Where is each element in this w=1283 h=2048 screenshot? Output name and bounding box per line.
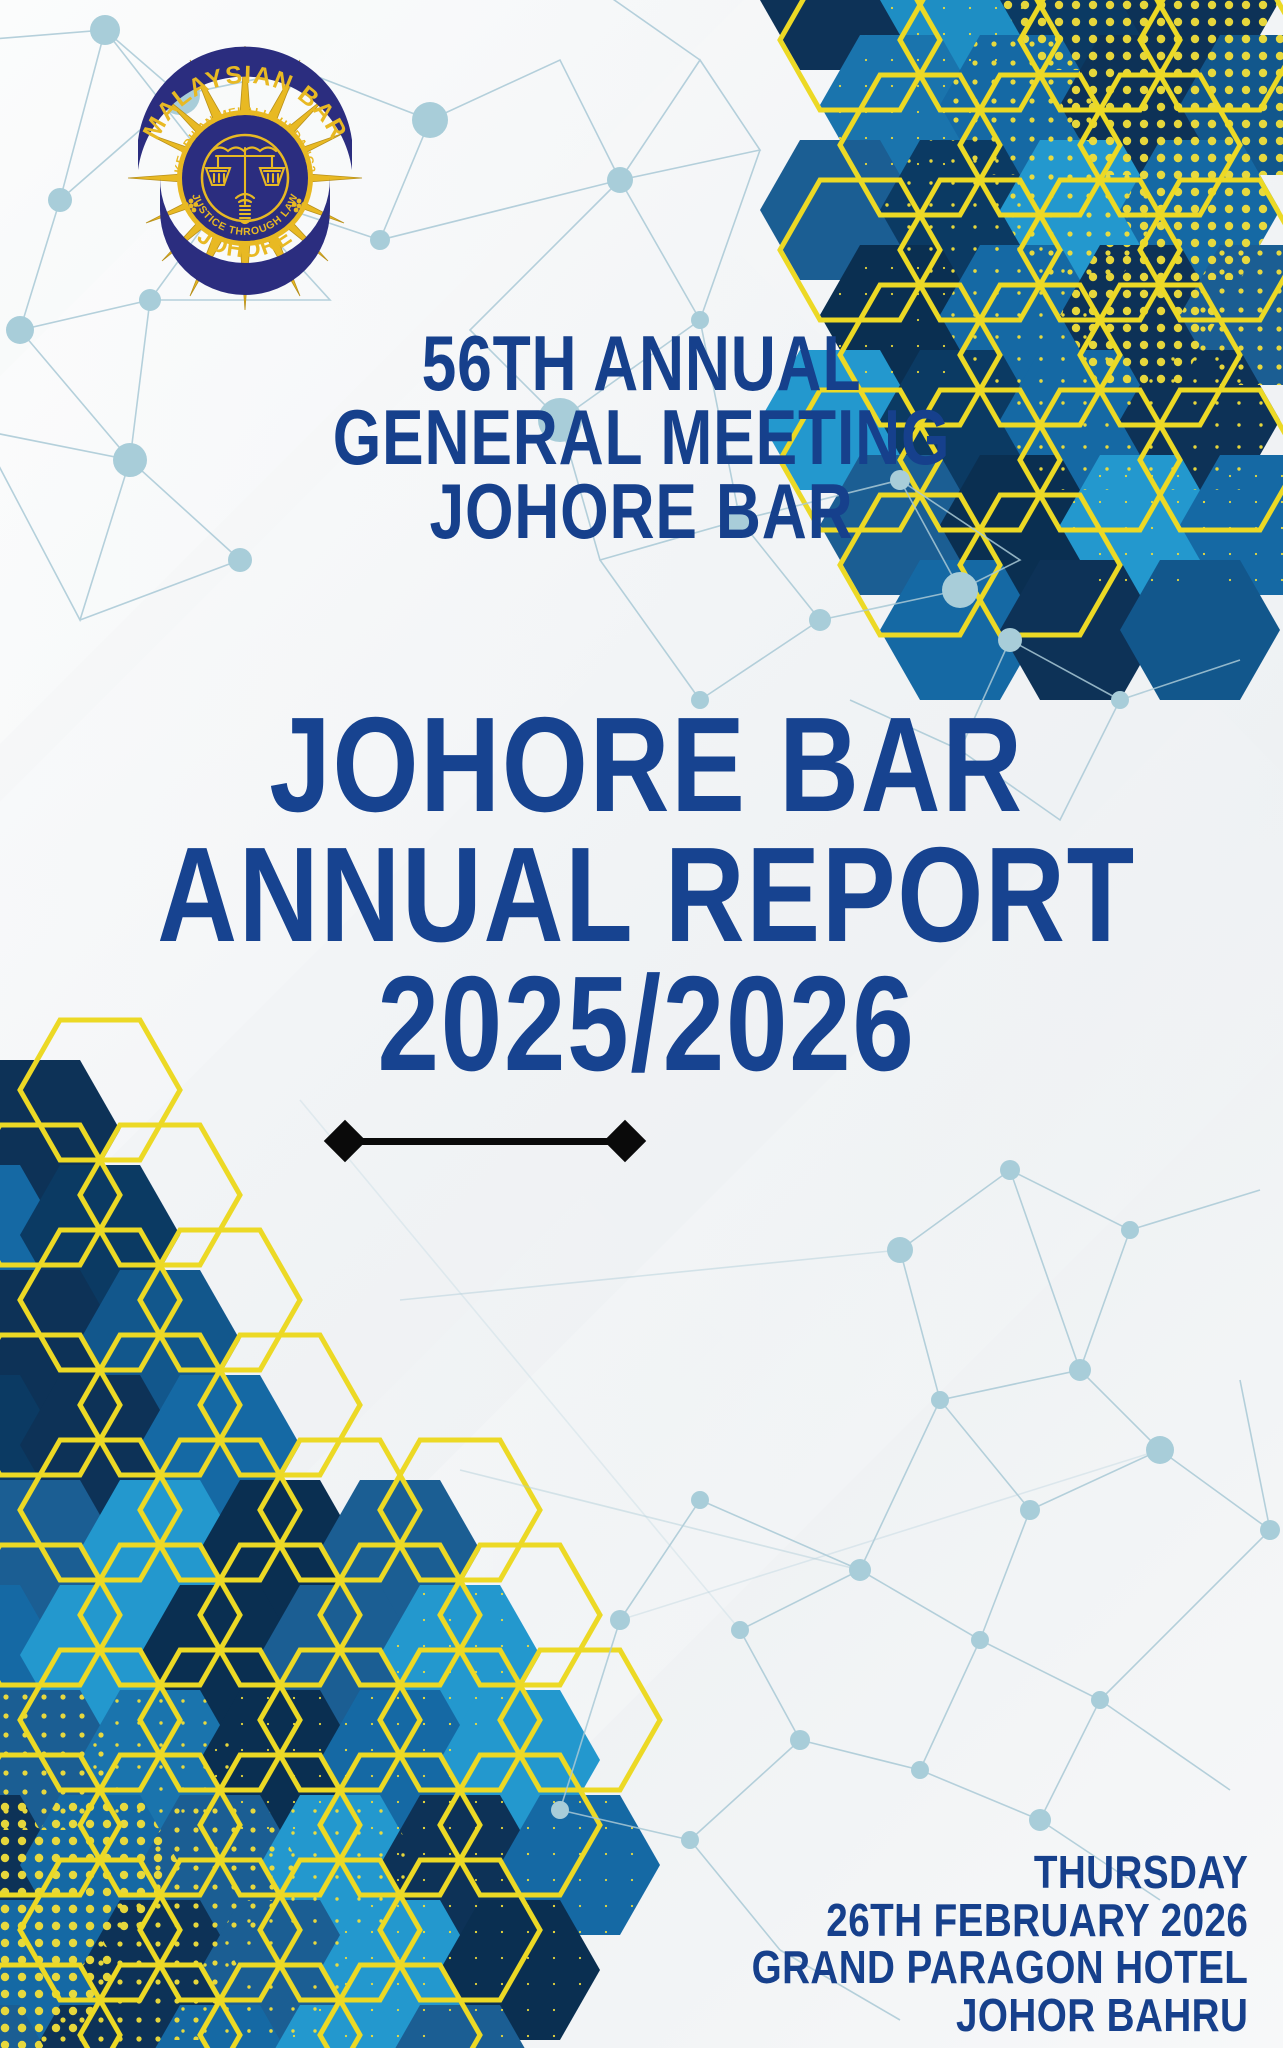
crest-icon: KEADILAN MELALUI UNDANG2 JUSTICE THROUGH… (120, 28, 370, 318)
main-title-line-1: JOHORE BAR (125, 700, 1169, 830)
event-city: JOHOR BAHRU (751, 1992, 1248, 2040)
report-cover-page: KEADILAN MELALUI UNDANG2 JUSTICE THROUGH… (0, 0, 1283, 2048)
divider-diamond-right-icon (604, 1120, 646, 1162)
malaysian-bar-johore-logo: KEADILAN MELALUI UNDANG2 JUSTICE THROUGH… (120, 28, 370, 318)
event-date: 26TH FEBRUARY 2026 (751, 1897, 1248, 1945)
event-headline: 56TH ANNUAL GENERAL MEETING JOHORE BAR (0, 326, 1283, 548)
divider-rule (342, 1138, 628, 1145)
headline-line-3: JOHORE BAR (128, 474, 1154, 548)
diamond-rule-divider (330, 1120, 640, 1162)
main-title-line-3: 2025/2026 (125, 959, 1169, 1089)
main-title-line-2: ANNUAL REPORT (125, 830, 1169, 960)
report-main-title: JOHORE BAR ANNUAL REPORT 2025/2026 (0, 700, 1283, 1089)
event-details: THURSDAY 26TH FEBRUARY 2026 GRAND PARAGO… (657, 1849, 1248, 2040)
event-day: THURSDAY (751, 1849, 1248, 1897)
event-venue: GRAND PARAGON HOTEL (751, 1944, 1248, 1992)
headline-line-2: GENERAL MEETING (128, 400, 1154, 474)
headline-line-1: 56TH ANNUAL (128, 326, 1154, 400)
